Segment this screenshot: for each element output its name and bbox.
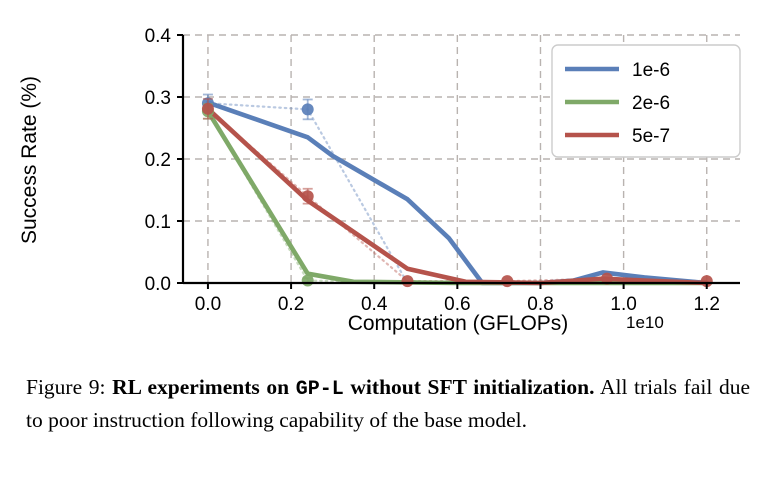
x-axis-tick-label: 1.0 bbox=[610, 294, 636, 315]
chart-svg: 0.00.10.20.30.40.00.20.40.60.81.01.2 1e-… bbox=[0, 0, 776, 350]
figure-caption: Figure 9: RL experiments on GP-L without… bbox=[26, 372, 750, 436]
y-axis-tick-label: 0.2 bbox=[145, 150, 171, 171]
caption-model-name: GP-L bbox=[296, 378, 344, 401]
caption-bold-tail: without SFT initialization. bbox=[350, 375, 594, 399]
data-point-marker bbox=[302, 103, 314, 115]
caption-figure-number: Figure 9: bbox=[26, 375, 106, 399]
figure-page: 0.00.10.20.30.40.00.20.40.60.81.01.2 1e-… bbox=[0, 0, 776, 502]
y-axis-title: Success Rate (%) bbox=[18, 76, 41, 244]
x-axis-tick-label: 0.2 bbox=[278, 294, 304, 315]
legend-label-1e-6: 1e-6 bbox=[632, 60, 670, 81]
y-axis-tick-label: 0.4 bbox=[145, 26, 172, 47]
data-point-marker bbox=[202, 103, 214, 115]
caption-bold-lead: RL experiments on bbox=[112, 375, 289, 399]
y-axis-tick-label: 0.0 bbox=[145, 274, 171, 295]
x-axis-title: Computation (GFLOPs) bbox=[348, 312, 569, 335]
data-point-marker bbox=[302, 275, 314, 287]
x-axis-tick-label: 1.2 bbox=[694, 294, 720, 315]
chart-legend: 1e-62e-65e-7 bbox=[552, 45, 740, 157]
chart-figure: 0.00.10.20.30.40.00.20.40.60.81.01.2 1e-… bbox=[0, 0, 776, 350]
data-point-marker bbox=[302, 190, 314, 202]
x-axis-exponent-label: 1e10 bbox=[626, 313, 664, 332]
y-axis-tick-label: 0.1 bbox=[145, 212, 171, 233]
legend-label-5e-7: 5e-7 bbox=[632, 126, 670, 147]
data-point-marker bbox=[401, 275, 413, 287]
legend-label-2e-6: 2e-6 bbox=[632, 93, 670, 114]
x-axis-tick-label: 0.0 bbox=[195, 294, 221, 315]
data-point-marker bbox=[501, 275, 513, 287]
y-axis-tick-label: 0.3 bbox=[145, 88, 171, 109]
